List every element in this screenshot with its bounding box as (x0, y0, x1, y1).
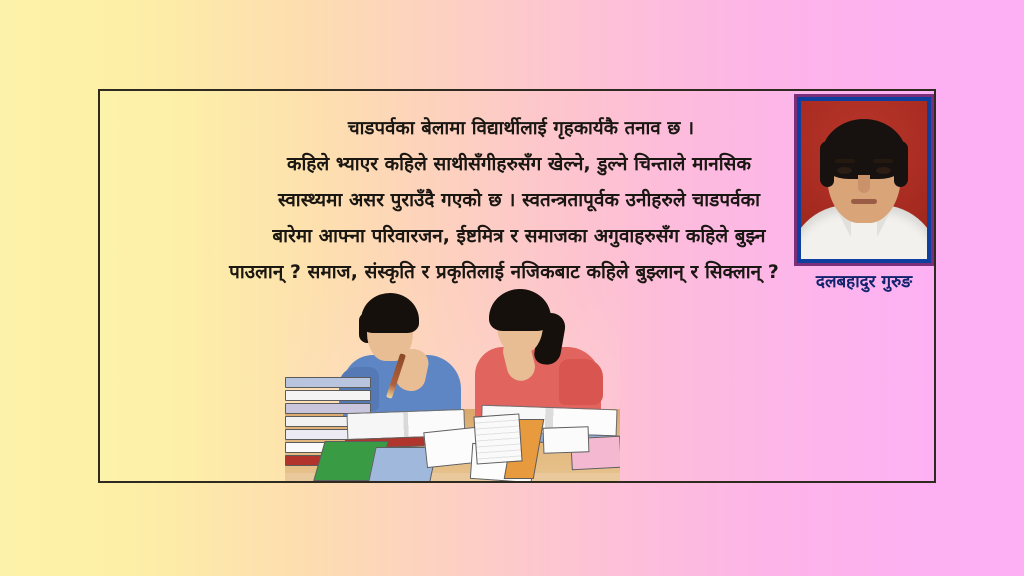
portrait-eye-left (837, 167, 852, 174)
stacked-book (285, 390, 371, 401)
girl-hair (489, 289, 551, 331)
portrait-eyebrow-right (873, 159, 893, 163)
portrait-nose (858, 175, 870, 193)
portrait-hair-right (894, 141, 908, 187)
content-box: चाडपर्वका बेलामा विद्यार्थीलाई गृहकार्यक… (98, 89, 936, 483)
portrait-hair-left (820, 141, 834, 187)
students-illustration (285, 289, 620, 481)
portrait-eye-right (876, 167, 891, 174)
portrait-eyebrow-left (835, 159, 855, 163)
portrait-mouth (851, 199, 877, 204)
boy-hair (361, 293, 419, 333)
author-portrait-frame (794, 94, 934, 266)
slide-canvas: चाडपर्वका बेलामा विद्यार्थीलाई गृहकार्यक… (0, 0, 1024, 576)
girl-sleeve (559, 359, 603, 405)
author-name-label: दलबहादुर गुरुङ (786, 269, 936, 292)
stacked-book (285, 377, 371, 388)
white-paper-right (543, 426, 590, 454)
ruled-paper (473, 413, 522, 464)
author-portrait-photo (801, 101, 927, 259)
